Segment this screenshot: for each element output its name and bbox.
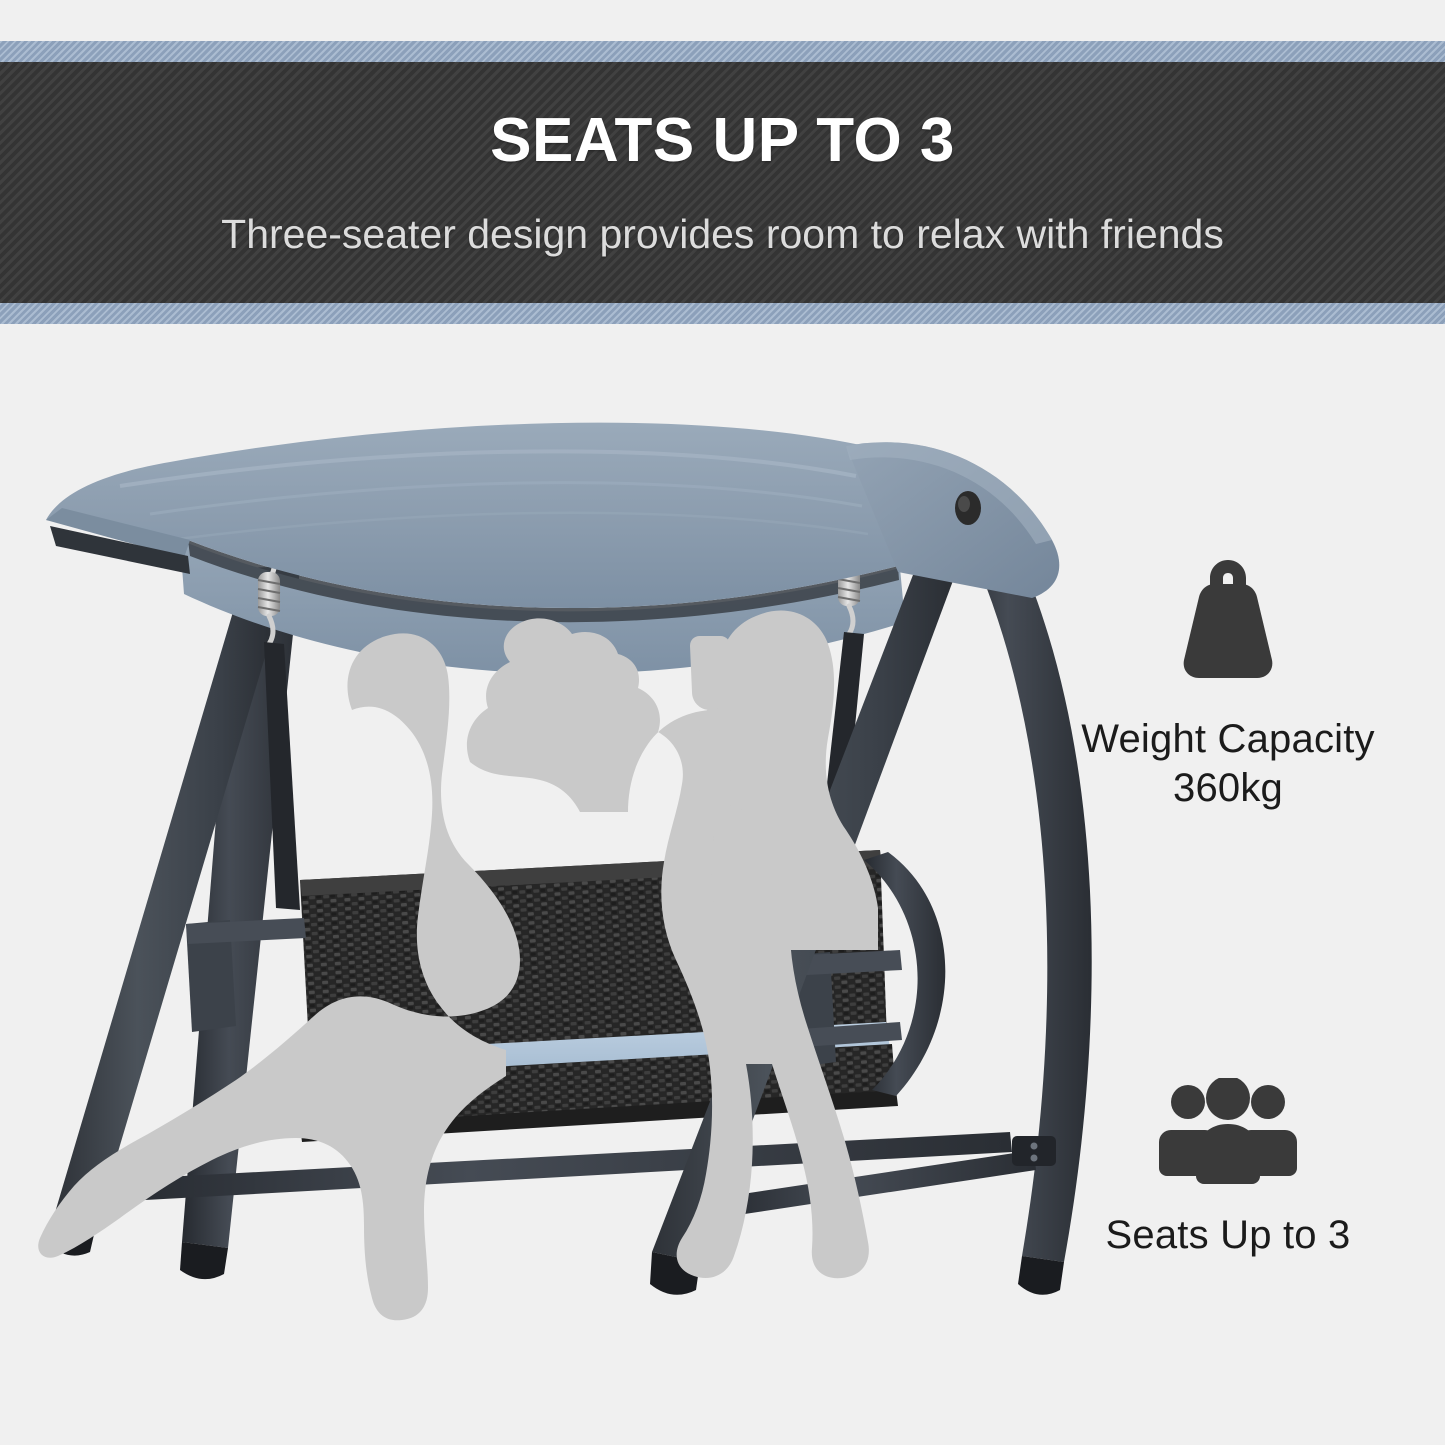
banner-body: SEATS UP TO 3 Three-seater design provid… — [0, 62, 1445, 303]
product-image — [0, 390, 1100, 1380]
three-people-icon — [1153, 1078, 1303, 1189]
banner-title: SEATS UP TO 3 — [490, 110, 955, 172]
feature-weight-capacity-label: Weight Capacity 360kg — [1081, 715, 1375, 813]
feature-seats-label: Seats Up to 3 — [1106, 1211, 1351, 1260]
silhouette-person-3-cup — [690, 636, 730, 710]
banner-subtitle: Three-seater design provides room to rel… — [221, 214, 1224, 255]
header-banner: SEATS UP TO 3 Three-seater design provid… — [0, 41, 1445, 324]
banner-top-stripe — [0, 41, 1445, 62]
swing-chair-illustration — [0, 390, 1100, 1380]
infographic-page: SEATS UP TO 3 Three-seater design provid… — [0, 0, 1445, 1445]
feature-seats: Seats Up to 3 — [1048, 1078, 1408, 1260]
banner-bottom-stripe — [0, 303, 1445, 324]
feature-weight-capacity: Weight Capacity 360kg — [1048, 548, 1408, 813]
weight-icon — [1153, 548, 1303, 693]
canopy — [46, 423, 898, 608]
